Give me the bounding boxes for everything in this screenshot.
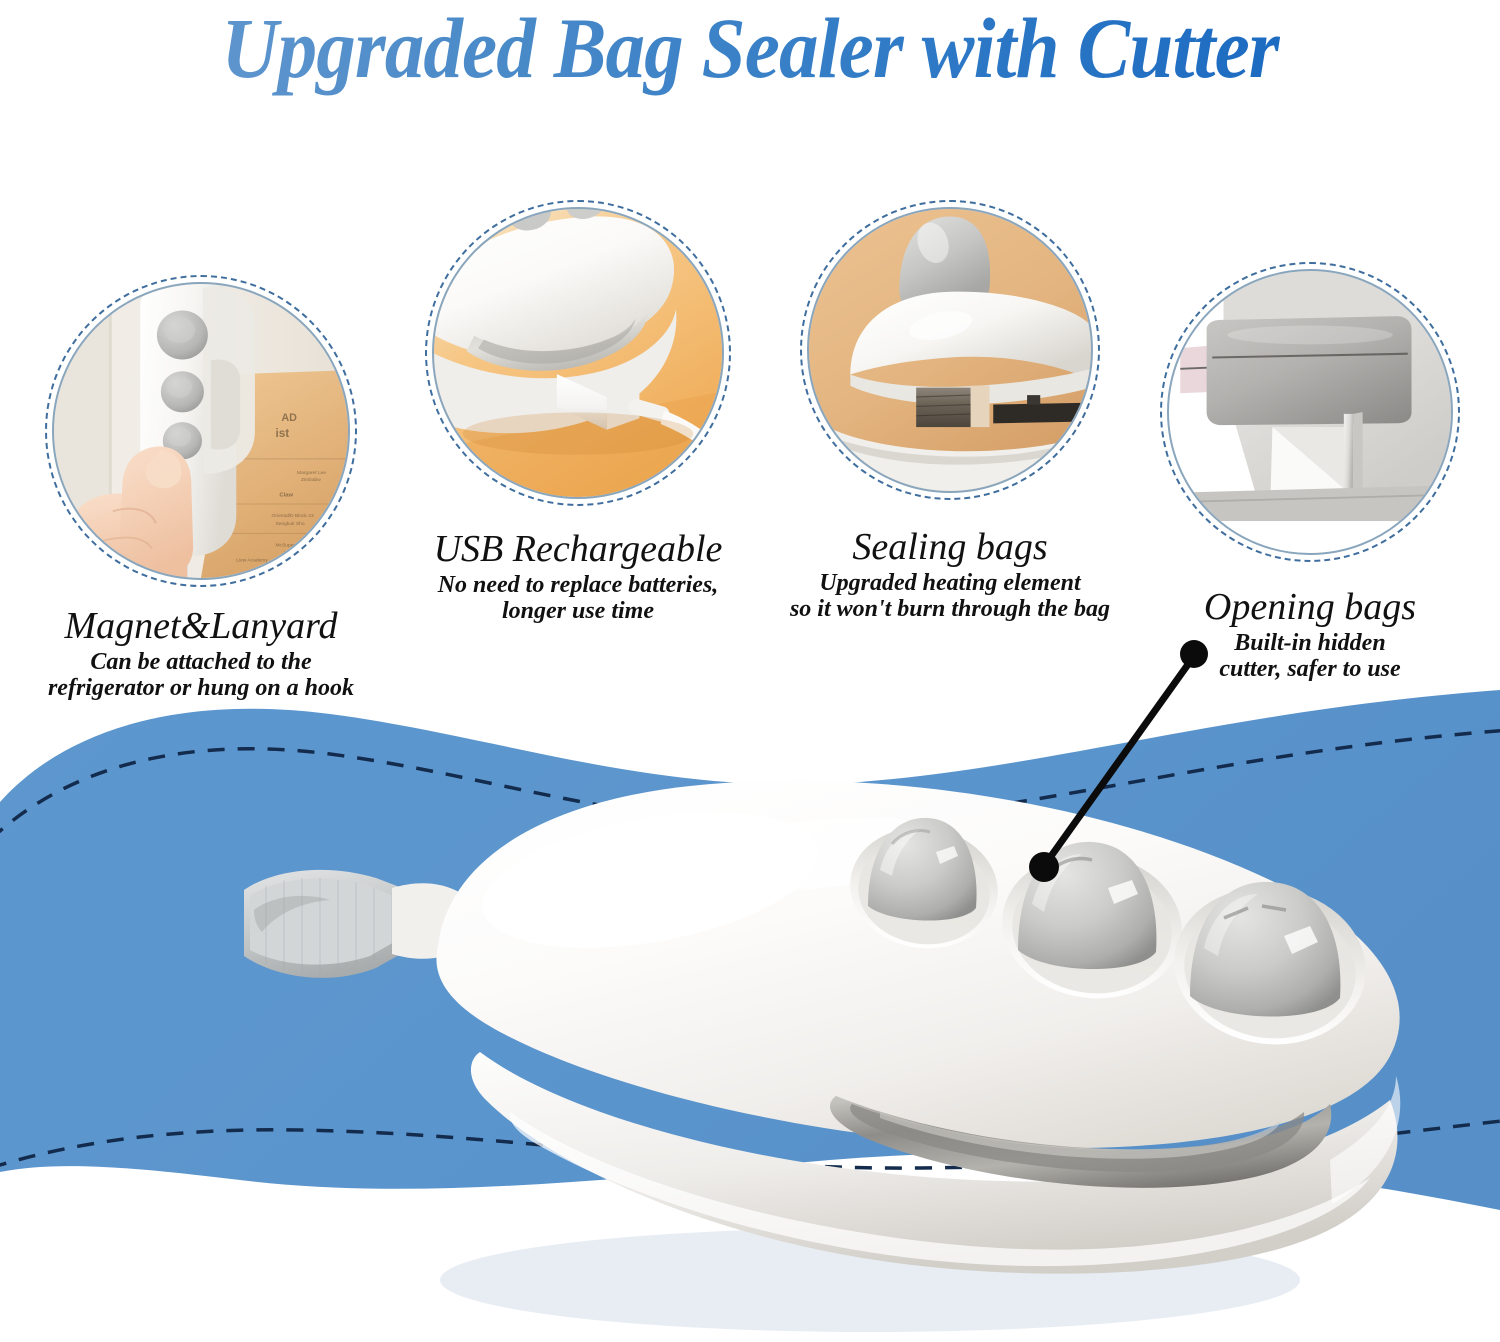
feature-card-opening-bags: Opening bags Built-in hidden cutter, saf… xyxy=(1160,262,1460,562)
feature-subtitle-line2: refrigerator or hung on a hook xyxy=(5,675,397,702)
feature-caption-sealing-bags: Sealing bags Upgraded heating element so… xyxy=(730,528,1170,623)
feature-title: Sealing bags xyxy=(730,528,1170,568)
feature-card-sealing-bags: Sealing bags Upgraded heating element so… xyxy=(800,200,1100,500)
feature-subtitle-line1: Upgraded heating element xyxy=(730,570,1170,597)
svg-text:BALDWO: BALDWO xyxy=(246,572,267,578)
feature-title: Opening bags xyxy=(1170,588,1450,628)
feature-title: Magnet&Lanyard xyxy=(5,607,397,647)
solid-ring-icon xyxy=(432,207,724,499)
feature-caption-magnet-lanyard: Magnet&Lanyard Can be attached to the re… xyxy=(5,607,397,702)
feature-subtitle-line2: cutter, safer to use xyxy=(1170,656,1450,683)
feature-card-usb-rechargeable: USB Rechargeable No need to replace batt… xyxy=(425,200,731,506)
feature-photo-usb-rechargeable xyxy=(425,200,731,506)
solid-ring-icon xyxy=(807,207,1093,493)
feature-photo-opening-bags xyxy=(1160,262,1460,562)
svg-text:Clinics: Clinics xyxy=(324,563,339,569)
page-title: Upgraded Bag Sealer with Cutter xyxy=(60,0,1440,100)
feature-caption-opening-bags: Opening bags Built-in hidden cutter, saf… xyxy=(1170,588,1450,683)
feature-card-magnet-lanyard: AD ist Margaret Lee Zimbabw Claw Orienta… xyxy=(45,275,357,587)
product-infographic: Upgraded Bag Sealer with Cutter xyxy=(0,0,1500,1342)
hero-product-image xyxy=(180,760,1440,1342)
feature-photo-sealing-bags xyxy=(800,200,1100,500)
feature-subtitle-line2: so it won't burn through the bag xyxy=(730,596,1170,623)
feature-subtitle-line1: Built-in hidden xyxy=(1170,630,1450,657)
feature-photo-magnet-lanyard: AD ist Margaret Lee Zimbabw Claw Orienta… xyxy=(45,275,357,587)
solid-ring-icon xyxy=(1167,269,1453,555)
feature-subtitle-line1: Can be attached to the xyxy=(5,649,397,676)
solid-ring-icon xyxy=(52,282,350,580)
